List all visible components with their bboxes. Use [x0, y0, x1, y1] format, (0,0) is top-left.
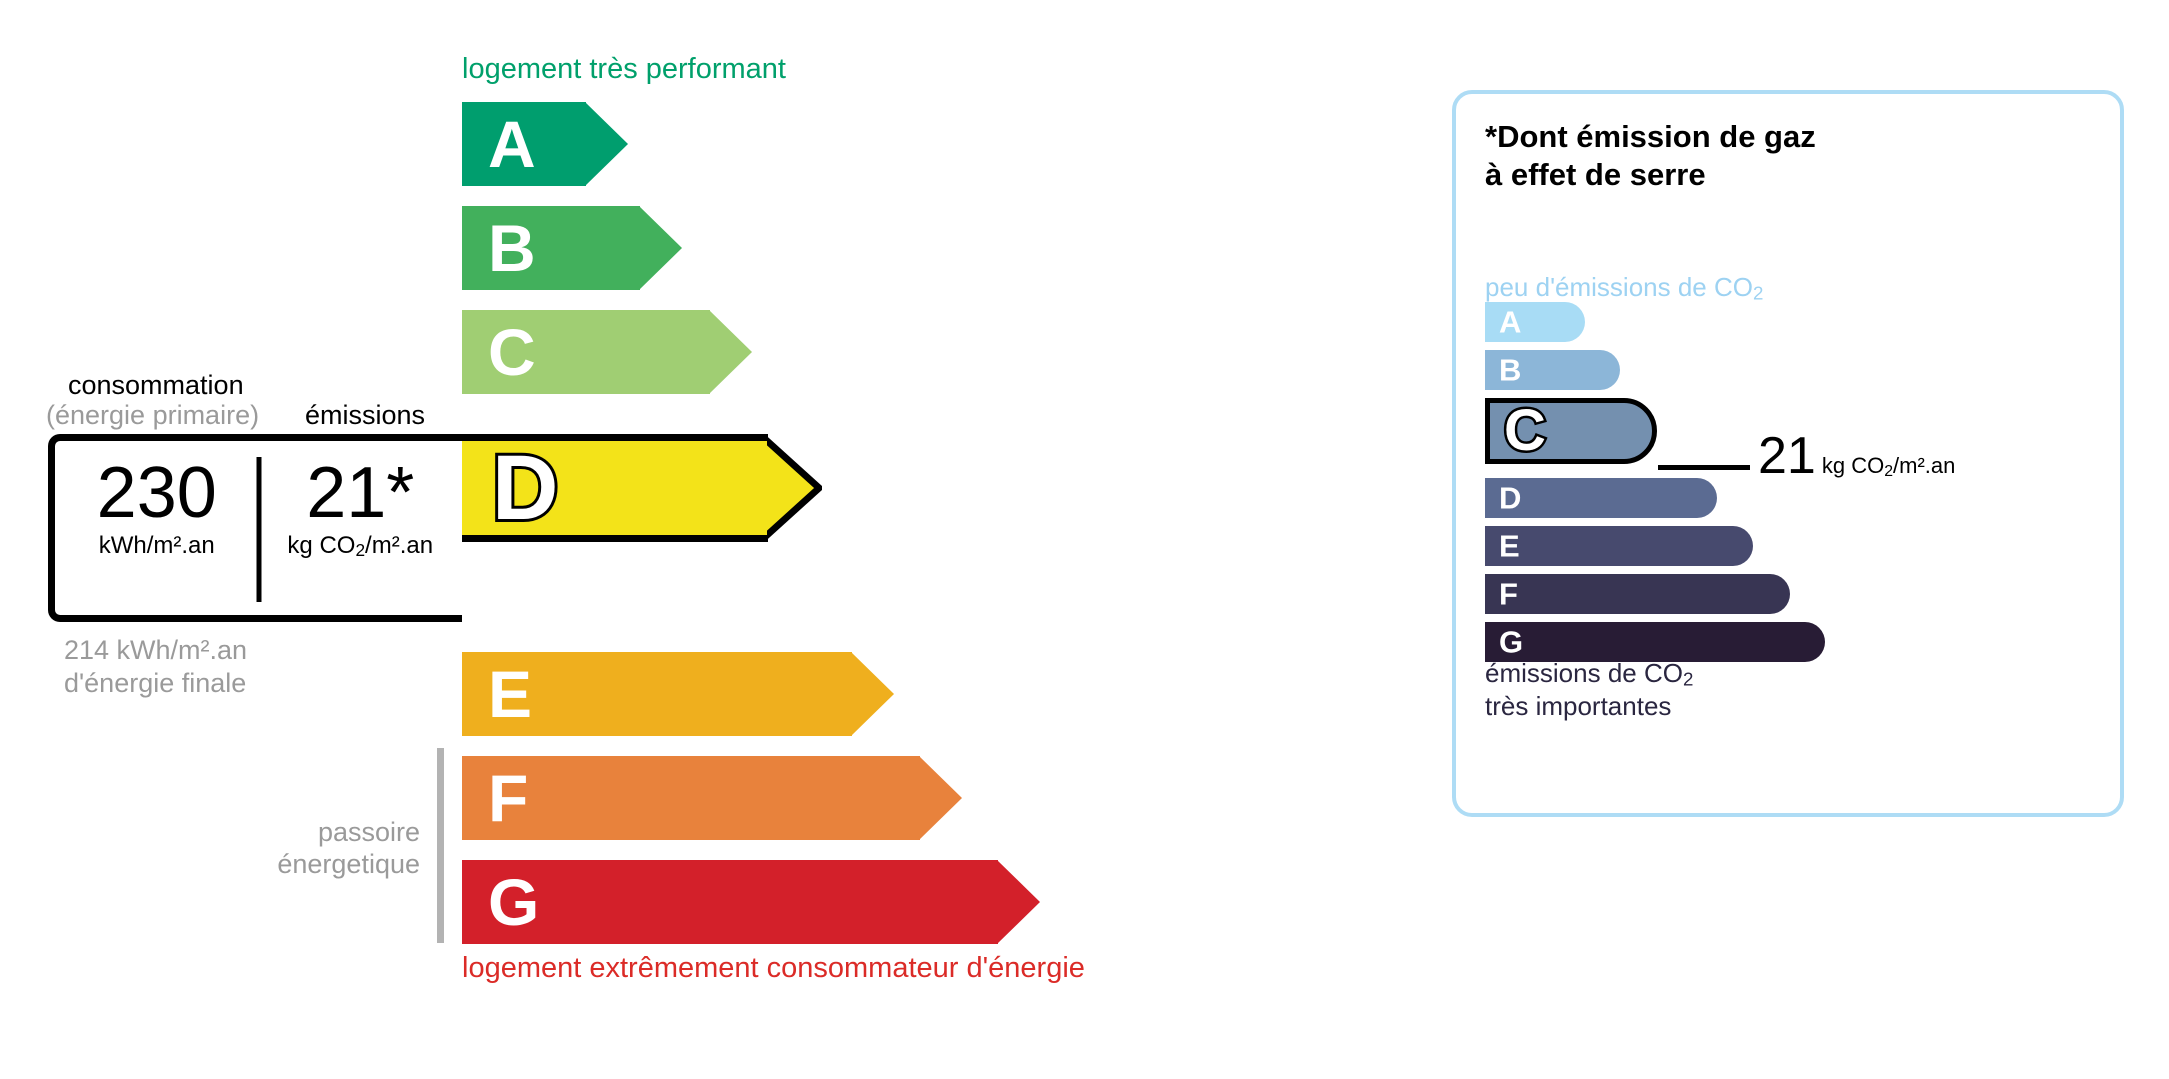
- co2-bottom-caption: émissions de CO2 très importantes: [1485, 658, 1693, 723]
- co2-grade-letter-d: D: [1499, 483, 1521, 514]
- emission-unit: kg CO2/m².an: [259, 532, 463, 561]
- energy-top-caption: logement très performant: [462, 53, 786, 86]
- co2-bar: A: [1485, 302, 1585, 342]
- energy-grade-letter-e: E: [488, 661, 532, 727]
- co2-grade-letter-g: G: [1499, 627, 1523, 658]
- passoire-energetique-label: passoire énergetique: [240, 816, 420, 881]
- co2-bottom-line1: émissions de CO2: [1485, 658, 1693, 691]
- co2-bar: D: [1485, 478, 1717, 518]
- co2-bar: E: [1485, 526, 1753, 566]
- co2-grade-letter-a: A: [1499, 307, 1521, 338]
- co2-grade-row-g: G: [1485, 622, 1825, 662]
- co2-grade-row-a: A: [1485, 302, 1585, 342]
- co2-value-annotation: 21kg CO2/m².an: [1758, 430, 1955, 482]
- final-energy-line2: d'énergie finale: [64, 667, 247, 700]
- energy-grade-arrow-c: C: [462, 310, 752, 394]
- arrow-head-icon: [997, 860, 1040, 944]
- co2-grade-letter-b: B: [1499, 355, 1521, 386]
- co2-title-line1: *Dont émission de gaz: [1485, 118, 1816, 156]
- energy-grade-arrow-a: A: [462, 102, 628, 186]
- co2-grade-letter-f: F: [1499, 579, 1518, 610]
- emission-cell: 21* kg CO2/m².an: [259, 441, 463, 562]
- co2-bar: B: [1485, 350, 1620, 390]
- energy-grade-letter-c: C: [488, 319, 536, 385]
- arrow-body: [462, 860, 998, 944]
- co2-grade-row-f: F: [1485, 574, 1790, 614]
- energy-grade-letter-g: G: [488, 869, 539, 935]
- co2-grade-row-d: D: [1485, 478, 1717, 518]
- arrow-head-icon: [851, 652, 894, 736]
- energy-grade-letter-a: A: [488, 111, 536, 177]
- co2-grade-letter-e: E: [1499, 531, 1520, 562]
- co2-value-number: 21: [1758, 427, 1816, 485]
- co2-title-line2: à effet de serre: [1485, 156, 1816, 194]
- co2-panel-title: *Dont émission de gaz à effet de serre: [1485, 118, 1816, 194]
- energy-grade-arrow-b: B: [462, 206, 682, 290]
- energy-value-box: 230 kWh/m².an 21* kg CO2/m².an: [48, 434, 462, 622]
- energy-grade-row-d-current: D: [462, 434, 822, 542]
- arrow-head-icon: [585, 102, 628, 186]
- energy-grade-arrow-f: F: [462, 756, 962, 840]
- label-emissions: émissions: [305, 400, 425, 431]
- consumption-unit: kWh/m².an: [55, 532, 259, 560]
- co2-bar: F: [1485, 574, 1790, 614]
- energy-grade-letter-b: B: [488, 215, 536, 281]
- co2-bar: G: [1485, 622, 1825, 662]
- energy-grade-arrow-d: D: [462, 434, 822, 542]
- arrow-body: [462, 756, 920, 840]
- energy-performance-diagram: logement très performant A B C: [0, 0, 1400, 1079]
- energy-grade-row-f: F: [462, 756, 962, 840]
- consumption-cell: 230 kWh/m².an: [55, 441, 259, 560]
- energy-grade-row-g: G: [462, 860, 1040, 944]
- co2-grade-row-e: E: [1485, 526, 1753, 566]
- passoire-line1: passoire: [240, 816, 420, 848]
- co2-bottom-line2: très importantes: [1485, 691, 1693, 723]
- energy-grade-row-a: A: [462, 102, 628, 186]
- energy-grade-row-e: E: [462, 652, 894, 736]
- co2-bar: C: [1485, 398, 1657, 464]
- consumption-value: 230: [55, 457, 259, 530]
- co2-value-unit: kg CO2/m².an: [1822, 453, 1956, 478]
- final-energy-note: 214 kWh/m².an d'énergie finale: [64, 634, 247, 700]
- energy-grade-row-b: B: [462, 206, 682, 290]
- energy-bottom-caption: logement extrêmement consommateur d'éner…: [462, 952, 1085, 985]
- arrow-head-icon: [639, 206, 682, 290]
- energy-grade-arrow-g: G: [462, 860, 1040, 944]
- co2-grade-row-b: B: [1485, 350, 1620, 390]
- energy-grade-letter-f: F: [488, 765, 528, 831]
- co2-top-caption: peu d'émissions de CO2: [1485, 272, 1763, 304]
- passoire-bracket: [437, 748, 444, 943]
- arrow-head-icon: [919, 756, 962, 840]
- co2-grade-letter-c: C: [1504, 402, 1546, 460]
- arrow-head-icon: [767, 434, 822, 542]
- energy-grade-letter-d: D: [492, 442, 558, 534]
- label-energie-primaire: (énergie primaire): [46, 400, 259, 431]
- arrow-head-icon: [709, 310, 752, 394]
- energy-grade-row-c: C: [462, 310, 752, 394]
- final-energy-line1: 214 kWh/m².an: [64, 634, 247, 667]
- energy-grade-arrow-e: E: [462, 652, 894, 736]
- co2-leader-line: [1658, 465, 1750, 470]
- co2-grade-row-c-current: C: [1485, 398, 1657, 464]
- emission-value: 21*: [259, 457, 463, 530]
- label-consommation: consommation: [68, 370, 244, 401]
- passoire-line2: énergetique: [240, 848, 420, 880]
